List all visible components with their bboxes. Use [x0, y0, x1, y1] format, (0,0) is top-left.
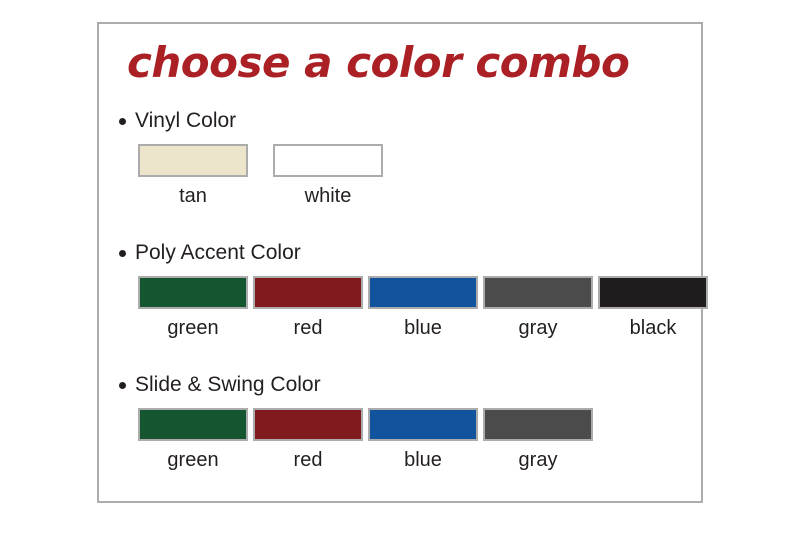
swatch-option-red[interactable]: red: [253, 408, 363, 472]
swatch-option-blue[interactable]: blue: [368, 408, 478, 472]
section-slide-swing-color: Slide & Swing Color greenredbluegray: [113, 372, 321, 484]
bullet-dot-icon: [119, 382, 126, 389]
section-vinyl-color: Vinyl Color tanwhite: [113, 108, 236, 220]
swatch-chip-blue[interactable]: [368, 276, 478, 309]
section-heading-slide: Slide & Swing Color: [119, 372, 321, 398]
swatch-row-poly: greenredbluegrayblack: [113, 276, 301, 352]
color-combo-panel: choose a color combo Vinyl Color tanwhit…: [97, 22, 703, 503]
swatch-chip-black[interactable]: [598, 276, 708, 309]
swatch-label: white: [273, 184, 383, 208]
page-title: choose a color combo: [127, 38, 629, 87]
swatch-option-blue[interactable]: blue: [368, 276, 478, 340]
swatch-chip-gray[interactable]: [483, 408, 593, 441]
bullet-dot-icon: [119, 250, 126, 257]
swatch-label: red: [253, 448, 363, 472]
section-heading-label: Poly Accent Color: [135, 241, 301, 265]
swatch-chip-red[interactable]: [253, 408, 363, 441]
swatch-label: blue: [368, 316, 478, 340]
swatch-option-white[interactable]: white: [273, 144, 383, 208]
swatch-option-gray[interactable]: gray: [483, 408, 593, 472]
section-heading-vinyl: Vinyl Color: [119, 108, 236, 134]
swatch-chip-blue[interactable]: [368, 408, 478, 441]
swatch-chip-red[interactable]: [253, 276, 363, 309]
swatch-chip-green[interactable]: [138, 408, 248, 441]
swatch-label: gray: [483, 316, 593, 340]
swatch-chip-green[interactable]: [138, 276, 248, 309]
swatch-label: blue: [368, 448, 478, 472]
swatch-label: tan: [138, 184, 248, 208]
swatch-option-black[interactable]: black: [598, 276, 708, 340]
swatch-option-gray[interactable]: gray: [483, 276, 593, 340]
swatch-option-green[interactable]: green: [138, 276, 248, 340]
swatch-label: gray: [483, 448, 593, 472]
section-heading-poly: Poly Accent Color: [119, 240, 301, 266]
swatch-chip-gray[interactable]: [483, 276, 593, 309]
swatch-label: black: [598, 316, 708, 340]
section-heading-label: Slide & Swing Color: [135, 373, 321, 397]
swatch-option-red[interactable]: red: [253, 276, 363, 340]
swatch-chip-tan[interactable]: [138, 144, 248, 177]
swatch-chip-white[interactable]: [273, 144, 383, 177]
section-poly-accent-color: Poly Accent Color greenredbluegrayblack: [113, 240, 301, 352]
swatch-label: red: [253, 316, 363, 340]
swatch-row-slide: greenredbluegray: [113, 408, 321, 484]
swatch-label: green: [138, 448, 248, 472]
swatch-label: green: [138, 316, 248, 340]
swatch-option-tan[interactable]: tan: [138, 144, 248, 208]
bullet-dot-icon: [119, 118, 126, 125]
section-heading-label: Vinyl Color: [135, 109, 236, 133]
swatch-row-vinyl: tanwhite: [113, 144, 236, 220]
swatch-option-green[interactable]: green: [138, 408, 248, 472]
